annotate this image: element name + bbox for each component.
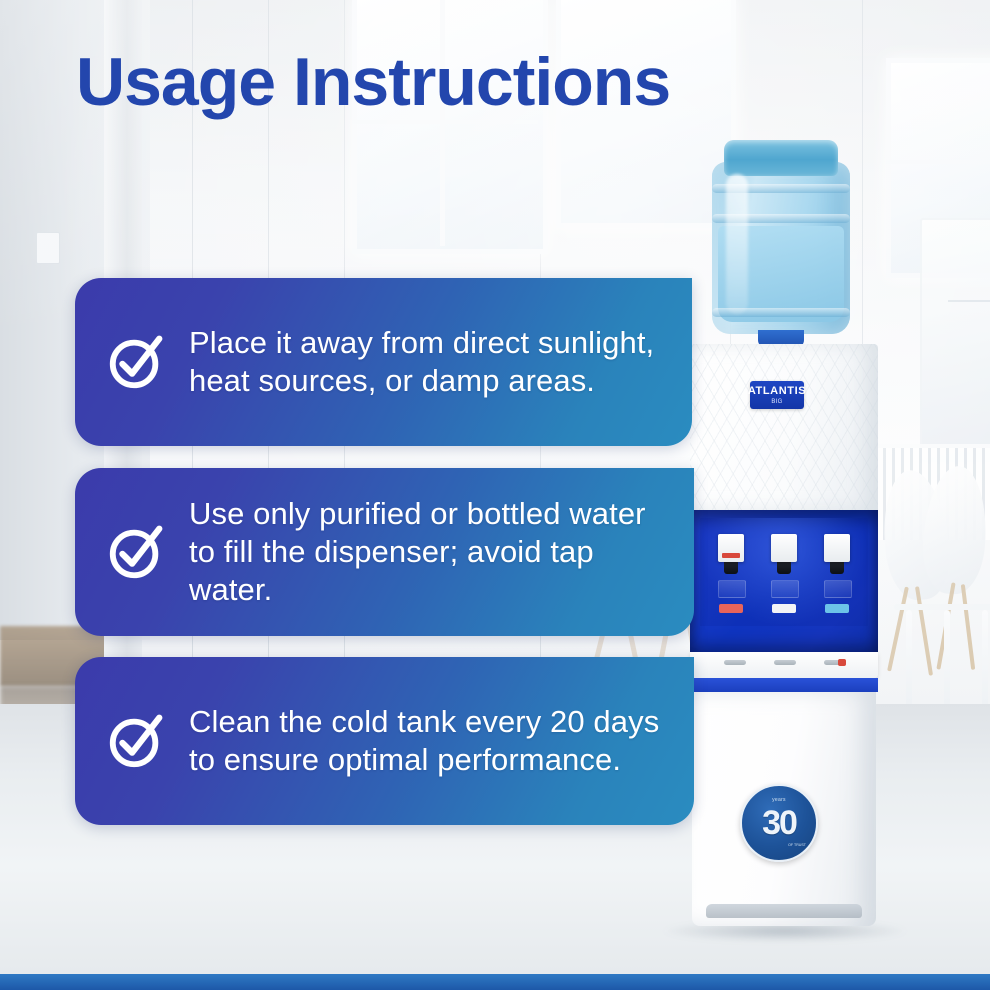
tap-spout — [777, 562, 791, 574]
bottle-highlight — [726, 174, 748, 314]
poster-canvas: ATLANTIS BIG HEATING HOT COOLING — [0, 0, 990, 990]
tap-backplate — [718, 580, 746, 598]
drip-tray — [690, 652, 878, 678]
check-circle-icon — [105, 331, 167, 393]
badge-top-text: years — [742, 797, 816, 803]
tap-recess — [690, 510, 878, 652]
tap-spout — [724, 562, 738, 574]
instruction-card: Use only purified or bottled water to fi… — [75, 468, 694, 636]
tap-spout — [830, 562, 844, 574]
instruction-card: Place it away from direct sunlight, heat… — [75, 278, 692, 446]
dispenser-top-cabinet — [690, 344, 878, 510]
water-bottle — [706, 140, 856, 352]
cabinet-kick-plate — [706, 904, 862, 918]
brand-name: ATLANTIS — [748, 386, 806, 397]
drip-tray-slot — [724, 660, 746, 665]
blue-trim-band — [690, 678, 878, 692]
textured-panel — [690, 344, 878, 510]
check-circle-icon — [105, 710, 167, 772]
instruction-text: Use only purified or bottled water to fi… — [189, 495, 674, 608]
instruction-text: Place it away from direct sunlight, heat… — [189, 324, 672, 400]
tap-lever[interactable] — [771, 534, 797, 562]
brand-badge: ATLANTIS BIG — [750, 381, 804, 409]
instruction-text: Clean the cold tank every 20 days to ens… — [189, 703, 674, 779]
hot-color-strip — [719, 604, 743, 613]
tap-backplate — [771, 580, 799, 598]
tap-backplate — [824, 580, 852, 598]
water-dispenser: ATLANTIS BIG HEATING HOT COOLING — [678, 140, 892, 932]
tap-lever[interactable] — [718, 534, 744, 562]
drip-tray-indicator — [838, 659, 846, 666]
normal-color-strip — [772, 604, 796, 613]
brand-subtitle: BIG — [771, 399, 782, 405]
cold-tap[interactable] — [824, 534, 850, 613]
hot-marker — [722, 553, 740, 558]
drip-tray-slot — [774, 660, 796, 665]
badge-bottom-text: OF TRUST — [788, 843, 806, 847]
badge-number: 30 — [762, 806, 796, 840]
bottle-cap — [724, 140, 838, 176]
instruction-card: Clean the cold tank every 20 days to ens… — [75, 657, 694, 825]
hot-tap[interactable] — [718, 534, 744, 613]
page-title: Usage Instructions — [76, 48, 936, 116]
normal-tap[interactable] — [771, 534, 797, 613]
check-circle-icon — [105, 521, 167, 583]
tap-lever[interactable] — [824, 534, 850, 562]
bottom-accent-bar — [0, 974, 990, 990]
cold-color-strip — [825, 604, 849, 613]
anniversary-badge: years 30 OF TRUST — [740, 784, 818, 862]
